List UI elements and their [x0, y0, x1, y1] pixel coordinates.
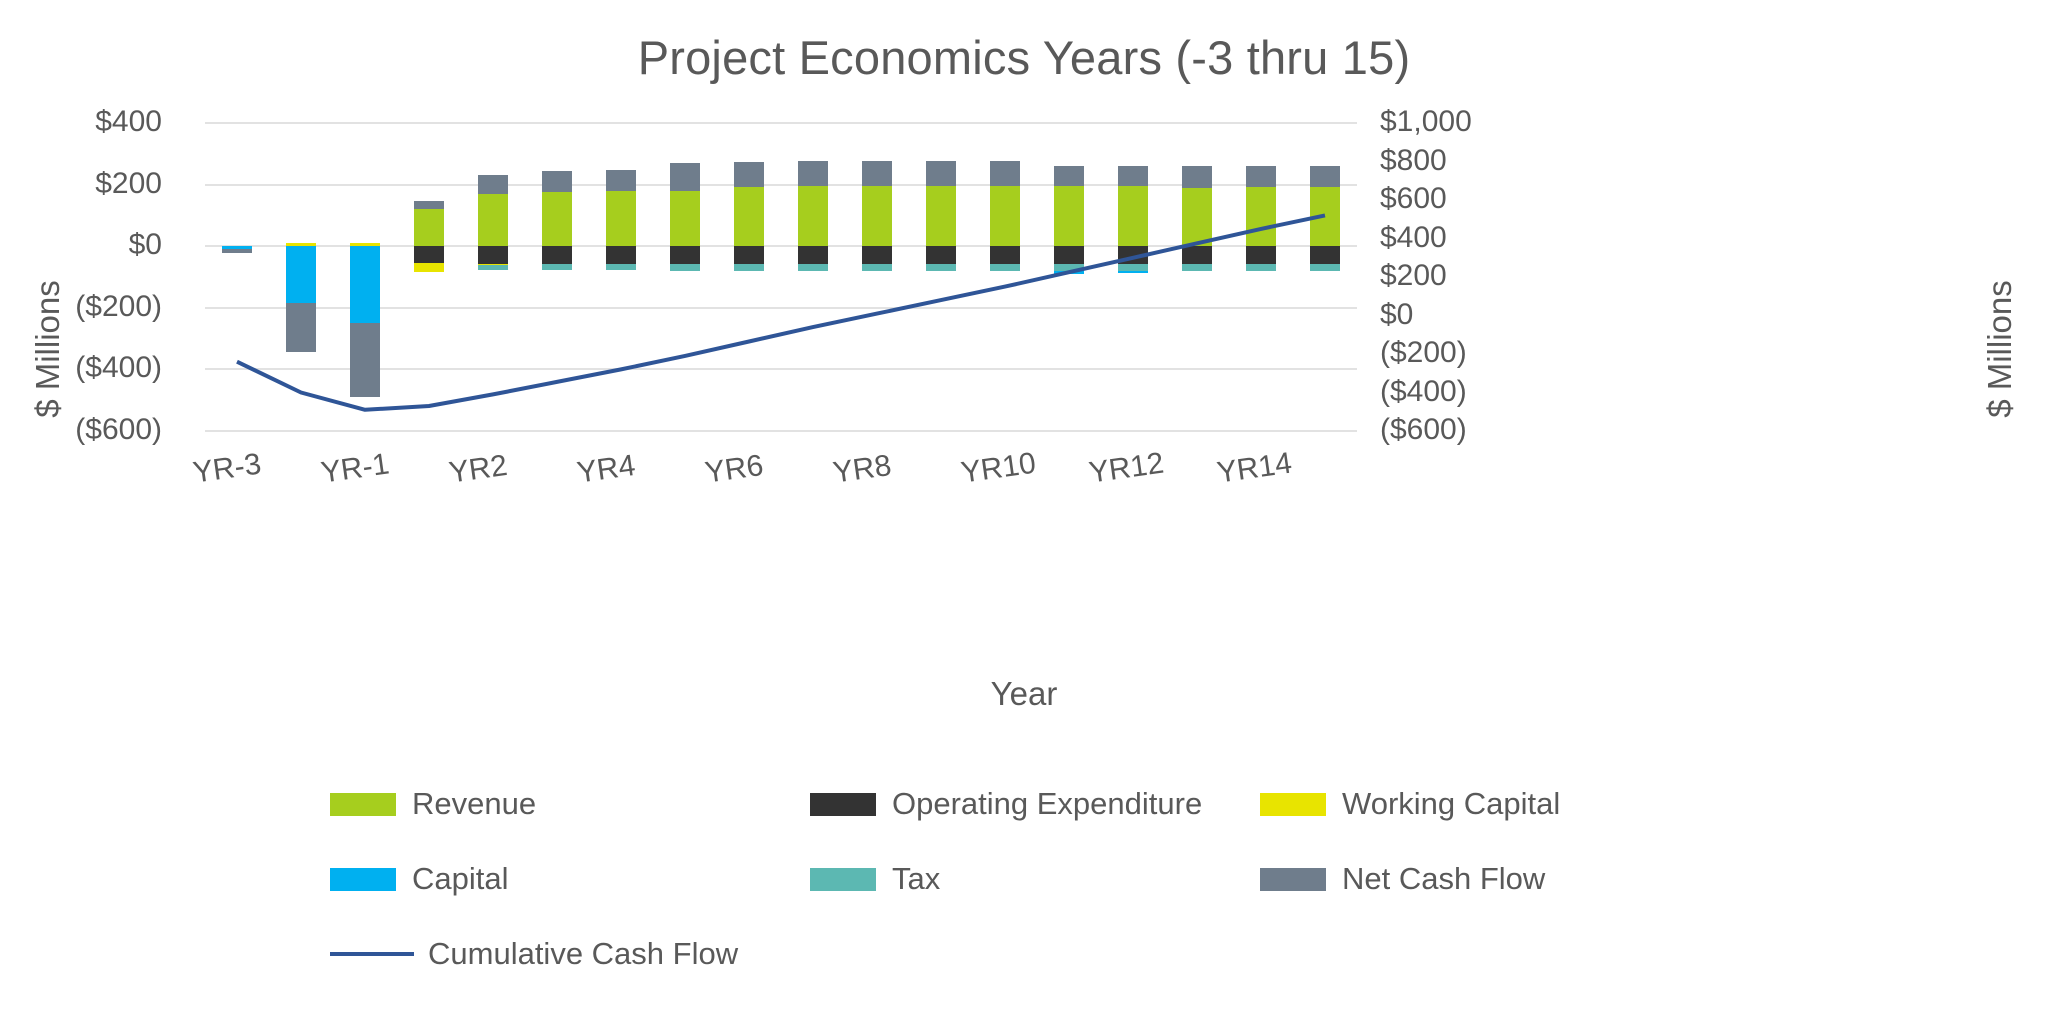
legend-item-operating-expenditure[interactable]: Operating Expenditure	[810, 780, 1202, 828]
legend-swatch-icon	[810, 868, 876, 891]
y-axis-left-tick-label: ($200)	[75, 292, 162, 322]
x-axis-tick-label: YR10	[959, 447, 1038, 491]
legend-label: Operating Expenditure	[892, 786, 1202, 822]
legend-row: CapitalTaxNet Cash Flow	[330, 855, 1660, 930]
y-axis-left-tick-label: ($400)	[75, 353, 162, 383]
legend-item-working-capital[interactable]: Working Capital	[1260, 780, 1560, 828]
y-axis-right-tick-label: $600	[1380, 184, 1447, 214]
x-axis-tick-label: YR8	[831, 449, 894, 491]
x-axis-tick-label: YR-1	[319, 447, 391, 490]
y-axis-right-tick-label: $200	[1380, 261, 1447, 291]
legend-label: Net Cash Flow	[1342, 861, 1545, 897]
y-axis-left-tick-label: $200	[95, 169, 162, 199]
cumulative-cash-flow-line	[205, 123, 1357, 431]
legend-label: Revenue	[412, 786, 536, 822]
legend-row: RevenueOperating ExpenditureWorking Capi…	[330, 780, 1660, 855]
y-axis-right-tick-label: ($600)	[1380, 415, 1467, 445]
legend-label: Capital	[412, 861, 509, 897]
legend-swatch-icon	[330, 868, 396, 891]
legend-item-capital[interactable]: Capital	[330, 855, 509, 903]
legend-swatch-icon	[330, 793, 396, 816]
y-axis-left-tick-label: $400	[95, 107, 162, 137]
x-axis-tick-label: YR6	[703, 449, 766, 491]
x-axis-tick-label: YR4	[575, 449, 638, 491]
legend-label: Working Capital	[1342, 786, 1560, 822]
x-axis-tick-label: YR12	[1087, 447, 1166, 491]
legend-item-revenue[interactable]: Revenue	[330, 780, 536, 828]
legend-item-cumulative-cash-flow[interactable]: Cumulative Cash Flow	[330, 930, 738, 978]
y-axis-left-tick-label: ($600)	[75, 415, 162, 445]
y-axis-left-tick-label: $0	[129, 230, 162, 260]
y-axis-right-tick-label: $800	[1380, 146, 1447, 176]
y-axis-left-ticks: $400$200$0($200)($400)($600)	[0, 0, 190, 1013]
chart-legend: RevenueOperating ExpenditureWorking Capi…	[330, 780, 1660, 1005]
legend-item-net-cash-flow[interactable]: Net Cash Flow	[1260, 855, 1545, 903]
y-axis-right-tick-label: $400	[1380, 223, 1447, 253]
legend-line-marker-icon	[330, 952, 414, 956]
x-axis-tick-label: YR2	[447, 449, 510, 491]
y-axis-right-tick-label: $0	[1380, 300, 1413, 330]
legend-label: Tax	[892, 861, 940, 897]
legend-item-tax[interactable]: Tax	[810, 855, 940, 903]
y-axis-left-title: $ Millions	[29, 229, 67, 469]
legend-label: Cumulative Cash Flow	[428, 936, 738, 972]
chart-container: Project Economics Years (-3 thru 15) $40…	[0, 0, 2048, 1013]
plot-area	[205, 123, 1357, 431]
legend-swatch-icon	[1260, 793, 1326, 816]
y-axis-right-tick-label: ($200)	[1380, 338, 1467, 368]
legend-swatch-icon	[810, 793, 876, 816]
y-axis-right-title: $ Millions	[1981, 229, 2019, 469]
chart-title: Project Economics Years (-3 thru 15)	[0, 30, 2048, 85]
x-axis-tick-label: YR-3	[191, 447, 263, 490]
y-axis-right-tick-label: ($400)	[1380, 377, 1467, 407]
y-axis-right-tick-label: $1,000	[1380, 107, 1472, 137]
x-axis-tick-label: YR14	[1215, 447, 1294, 491]
x-axis-title: Year	[0, 675, 2048, 713]
legend-row: Cumulative Cash Flow	[330, 930, 1660, 1005]
legend-swatch-icon	[1260, 868, 1326, 891]
cumulative-cash-flow-polyline	[237, 215, 1325, 409]
